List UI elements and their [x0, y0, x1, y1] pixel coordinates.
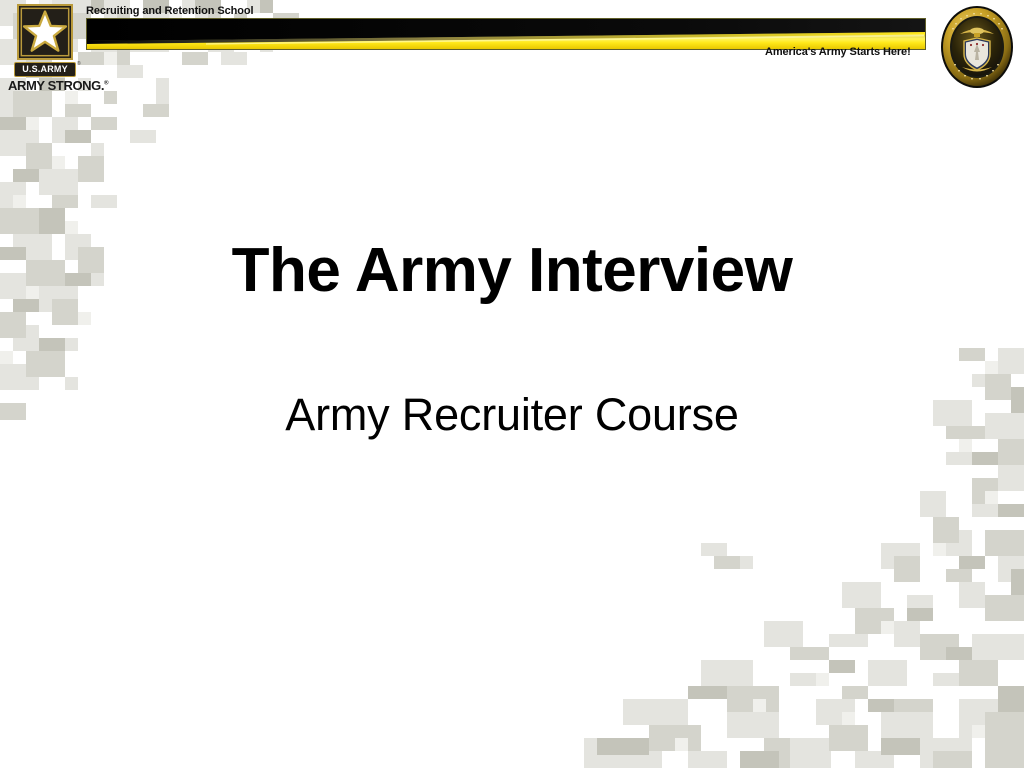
presentation-slide: U.S.ARMY ® ARMY STRONG.® Recruiting and … — [0, 0, 1024, 768]
school-title: Recruiting and Retention School — [86, 5, 253, 17]
tagline: America's Army Starts Here! — [765, 46, 911, 58]
us-army-logo-lockup: U.S.ARMY ® ARMY STRONG.® — [8, 4, 86, 92]
slide-subtitle: Army Recruiter Course — [0, 390, 1024, 440]
army-star-icon — [17, 4, 73, 60]
army-strong-slogan: ARMY STRONG.® — [8, 78, 104, 93]
recruiting-retention-school-seal-icon — [938, 4, 1016, 90]
slide-title: The Army Interview — [0, 238, 1024, 303]
registered-mark: ® — [77, 61, 81, 67]
slide-header: U.S.ARMY ® ARMY STRONG.® Recruiting and … — [0, 0, 1024, 100]
us-army-plaque-label: U.S.ARMY — [14, 62, 76, 77]
army-strong-text: ARMY STRONG — [8, 78, 101, 93]
